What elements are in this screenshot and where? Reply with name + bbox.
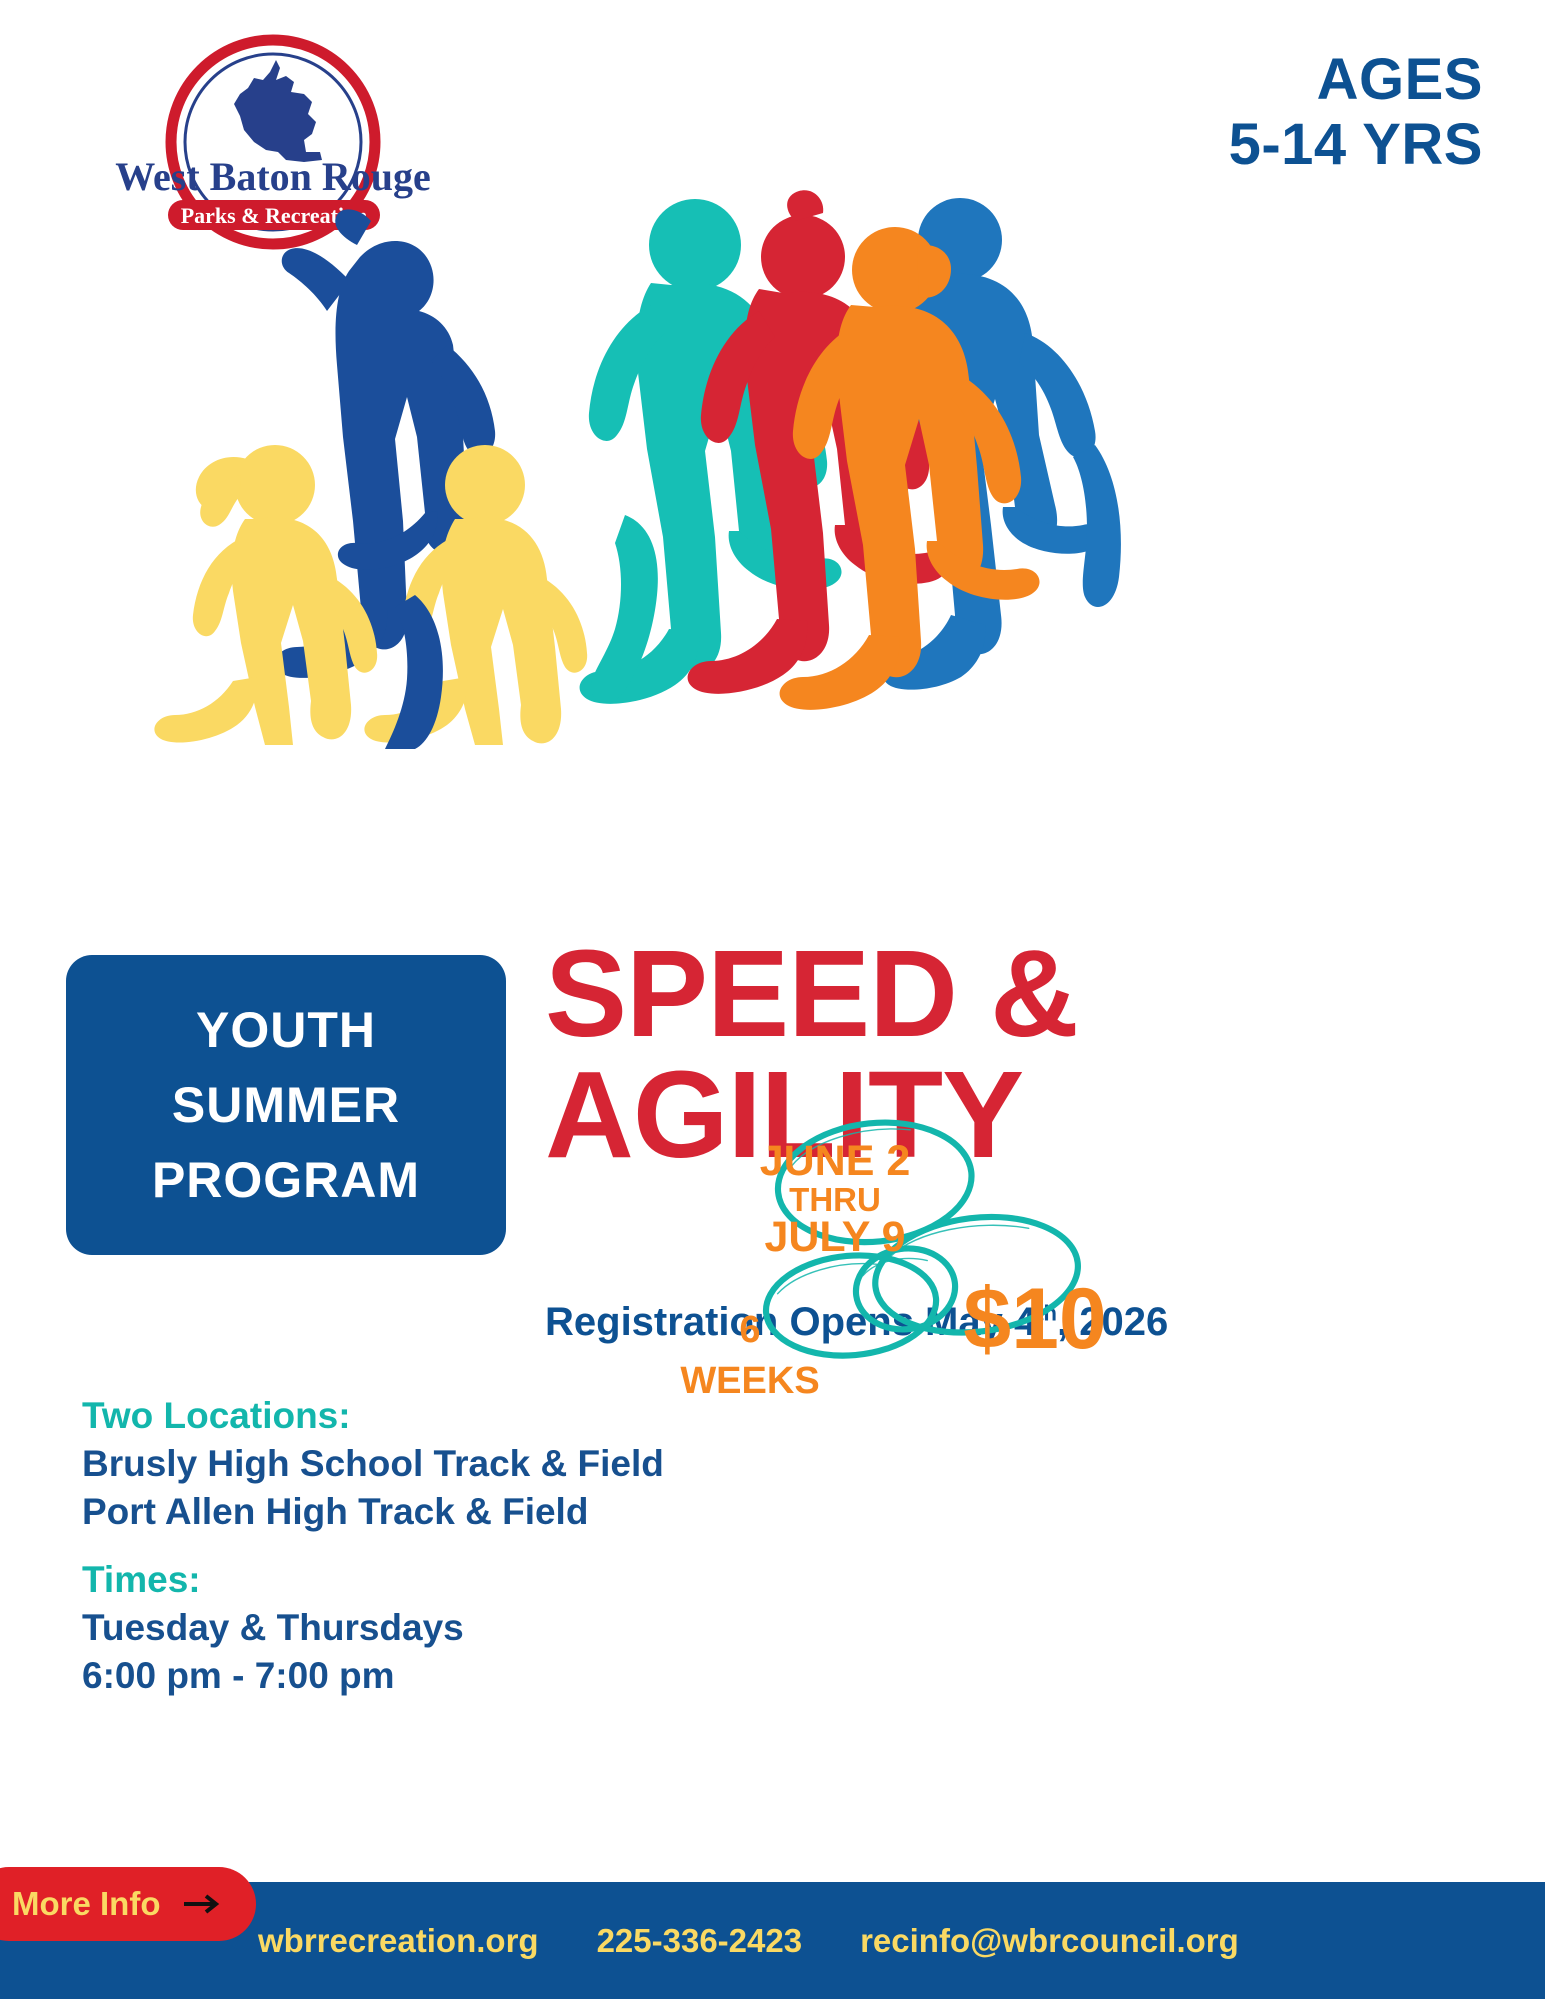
program-title-box: YOUTH SUMMER PROGRAM — [66, 955, 506, 1255]
ages-line-2: 5-14 YRS — [1229, 113, 1483, 178]
footer-bar: More Info wbrrecreation.org 225-336-2423… — [0, 1882, 1545, 1999]
weeks-number: 6 — [640, 1305, 860, 1356]
footer-phone[interactable]: 225-336-2423 — [597, 1922, 803, 1960]
location-item-2: Port Allen High Track & Field — [82, 1491, 682, 1533]
program-line-1: YOUTH — [196, 993, 376, 1068]
program-line-3: PROGRAM — [152, 1143, 420, 1218]
times-heading: Times: — [82, 1559, 682, 1601]
price-label: $10 — [905, 1270, 1165, 1369]
dates-thru: THRU — [720, 1183, 950, 1216]
weeks-label: 6 WEEKS — [640, 1305, 860, 1408]
runners-illustration — [95, 185, 1155, 755]
footer-contacts: wbrrecreation.org 225-336-2423 recinfo@w… — [258, 1922, 1239, 1960]
ages-block: AGES 5-14 YRS — [1229, 48, 1483, 178]
footer-email[interactable]: recinfo@wbrcouncil.org — [860, 1922, 1239, 1960]
more-info-label: More Info — [12, 1885, 160, 1923]
headline-line-1: SPEED & — [545, 926, 1078, 1063]
dates-label: JUNE 2 THRU JULY 9 — [720, 1140, 950, 1259]
ages-line-1: AGES — [1229, 48, 1483, 113]
runner-yellow-girl-icon — [154, 445, 377, 745]
arrow-right-icon — [182, 1893, 222, 1915]
dates-line-1: JUNE 2 — [760, 1137, 911, 1185]
times-hours: 6:00 pm - 7:00 pm — [82, 1655, 682, 1697]
footer-website[interactable]: wbrrecreation.org — [258, 1922, 539, 1960]
poster-canvas: West Baton Rouge Parks & Recreation AGES… — [0, 0, 1545, 1999]
times-days: Tuesday & Thursdays — [82, 1607, 682, 1649]
parish-outline-shape — [234, 60, 322, 162]
program-line-2: SUMMER — [172, 1068, 400, 1143]
more-info-button[interactable]: More Info — [0, 1867, 256, 1941]
weeks-word: WEEKS — [640, 1356, 860, 1407]
dates-line-2: JULY 9 — [764, 1213, 905, 1261]
